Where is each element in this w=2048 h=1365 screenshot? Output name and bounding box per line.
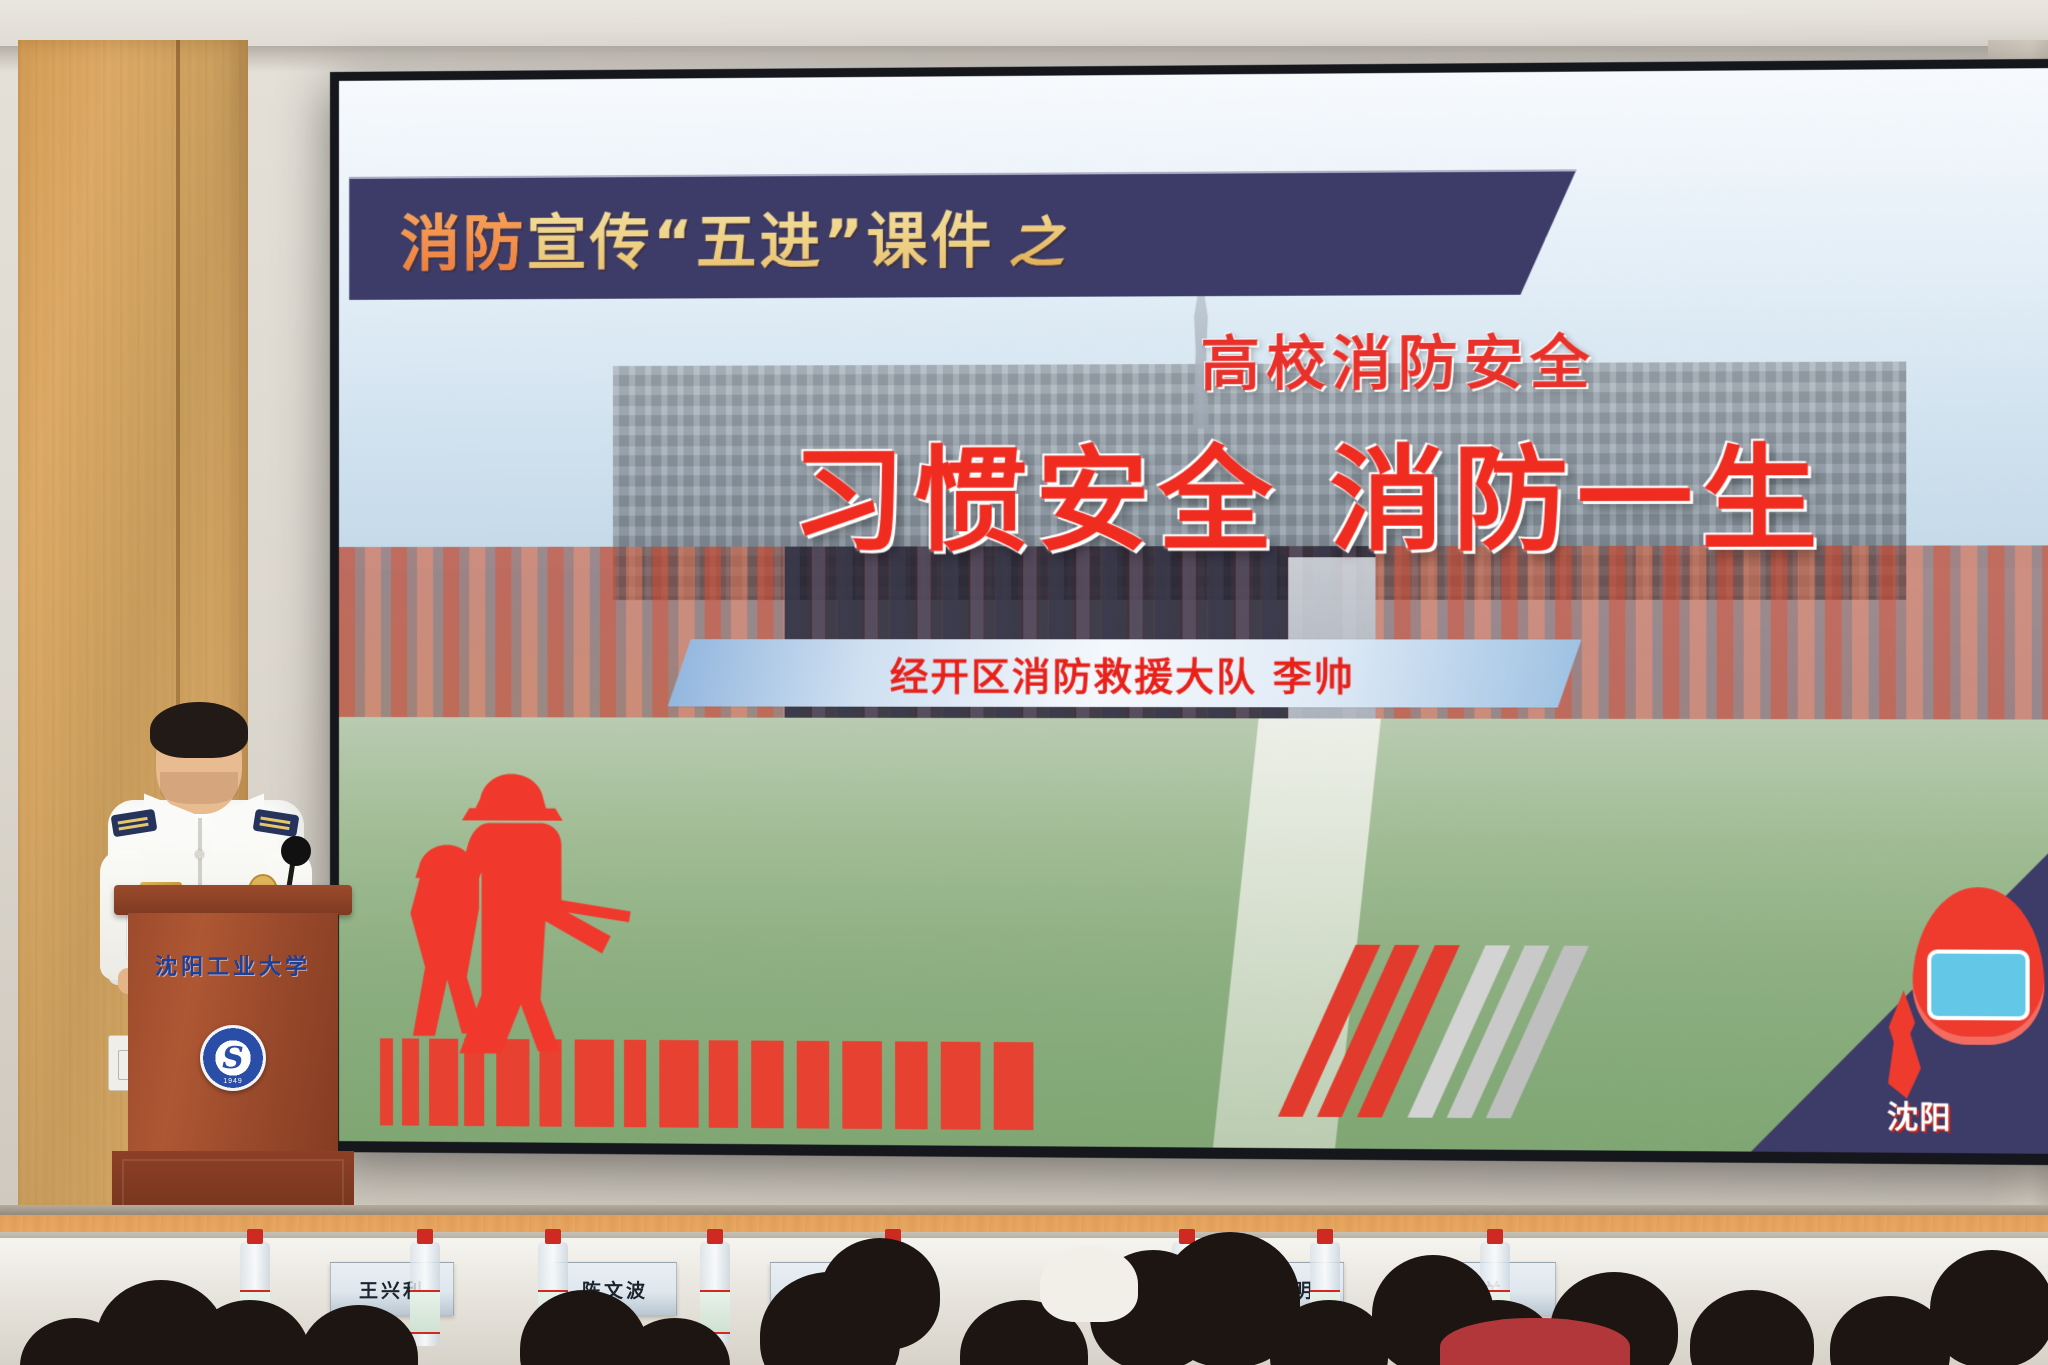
slide-title: 消防宣传“五进”课件之 bbox=[400, 192, 1067, 283]
water-bottle bbox=[410, 1242, 440, 1346]
shirt-button bbox=[195, 850, 204, 859]
presenter-ribbon: 经开区消防救援大队 李帅 bbox=[668, 639, 1582, 708]
lectern: 沈阳工业大学 1949 bbox=[128, 885, 338, 1240]
slide-title-highlight: 消防 bbox=[400, 209, 526, 280]
slide-title-bar: 消防宣传“五进”课件之 bbox=[349, 170, 1576, 301]
badge-org-label: 沈阳 bbox=[1887, 1091, 2048, 1137]
slide-title-main: 宣传“五进”课件 bbox=[526, 207, 994, 280]
projection-screen-frame: 消防宣传“五进”课件之 高校消防安全 习惯安全 消防一生 经开区消防救援大队 李… bbox=[330, 59, 2048, 1166]
slide-title-suffix: 之 bbox=[1009, 211, 1067, 275]
audience-head bbox=[820, 1238, 940, 1350]
emblem-year-label: 1949 bbox=[200, 1078, 266, 1085]
presentation-slide: 消防宣传“五进”课件之 高校消防安全 习惯安全 消防一生 经开区消防救援大队 李… bbox=[339, 68, 2048, 1154]
audience-white-cap bbox=[1040, 1246, 1138, 1322]
city-skyline-silhouette-icon bbox=[380, 1014, 1034, 1130]
university-emblem-icon: 1949 bbox=[200, 1025, 266, 1091]
speaker-hair bbox=[150, 702, 248, 758]
lectern-front-panel: 沈阳工业大学 1949 bbox=[128, 913, 338, 1153]
firefighter-helmet-icon bbox=[1913, 887, 2044, 1045]
lectern-top bbox=[114, 885, 352, 915]
speaker-face-shadow bbox=[160, 772, 238, 804]
slide-headline: 习惯安全 消防一生 bbox=[339, 407, 1826, 573]
lecture-hall-scene: 消防宣传“五进”课件之 高校消防安全 习惯安全 消防一生 经开区消防救援大队 李… bbox=[0, 0, 2048, 1365]
decorative-stripes bbox=[1306, 944, 1870, 1120]
audience-head bbox=[1930, 1250, 2048, 1365]
presenter-name-label: 经开区消防救援大队 李帅 bbox=[890, 645, 1355, 701]
lectern-institution-label: 沈阳工业大学 bbox=[134, 949, 332, 981]
audience-shoulders bbox=[1440, 1318, 1630, 1365]
slide-subtitle: 高校消防安全 bbox=[339, 314, 1596, 403]
fire-brigade-badge: 沈阳 bbox=[1876, 871, 2048, 1143]
microphone-head-icon bbox=[281, 836, 311, 866]
